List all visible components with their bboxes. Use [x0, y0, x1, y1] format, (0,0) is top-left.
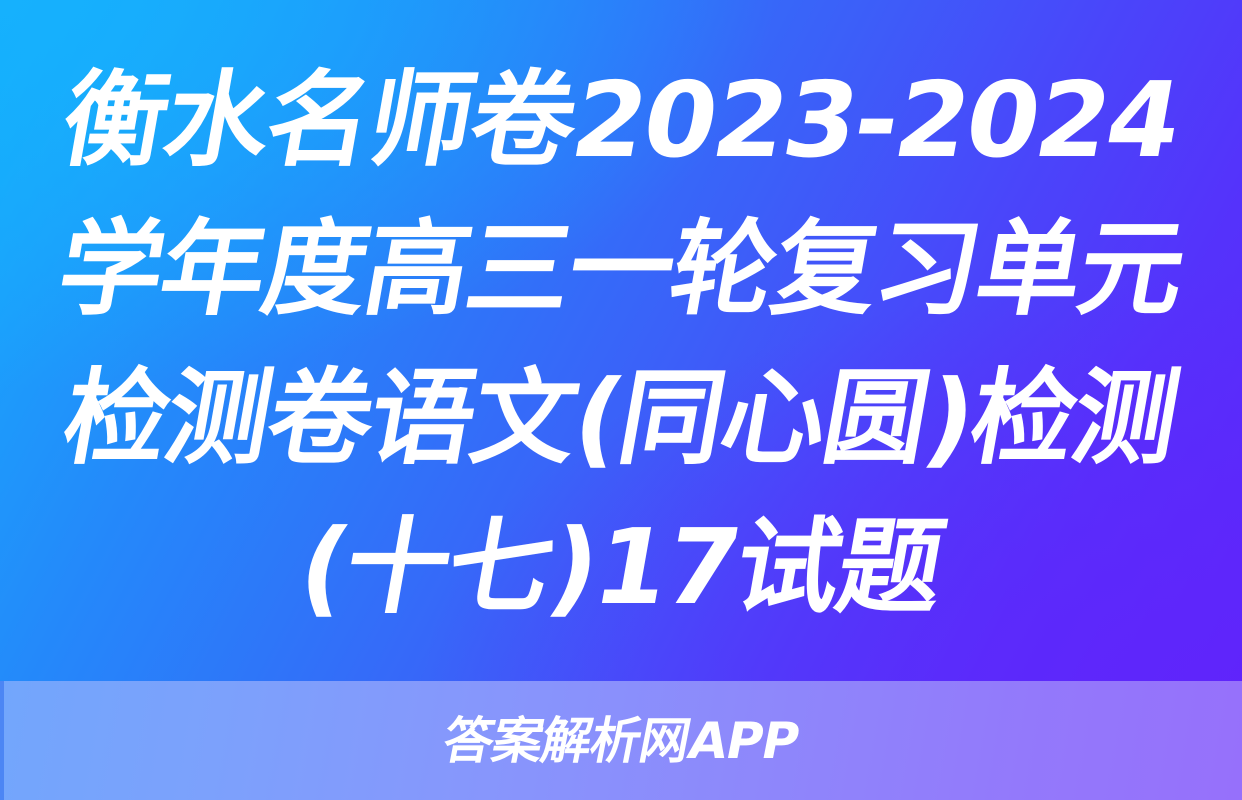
watermark-band: 答案解析网APP: [0, 681, 1242, 800]
title-block: 衡水名师卷2023-2024 学年度高三一轮复习单元 检测卷语文(同心圆)检测 …: [0, 0, 1242, 681]
title-line-2: 学年度高三一轮复习单元: [47, 195, 1195, 344]
poster-image: 衡水名师卷2023-2024 学年度高三一轮复习单元 检测卷语文(同心圆)检测 …: [0, 0, 1242, 800]
title-line-1: 衡水名师卷2023-2024: [51, 46, 1191, 195]
title-line-4: (十七)17试题: [288, 493, 954, 642]
title-line-3: 检测卷语文(同心圆)检测: [52, 344, 1189, 493]
band-left-edge-accent: [0, 681, 4, 800]
watermark-text: 答案解析网APP: [439, 716, 803, 766]
